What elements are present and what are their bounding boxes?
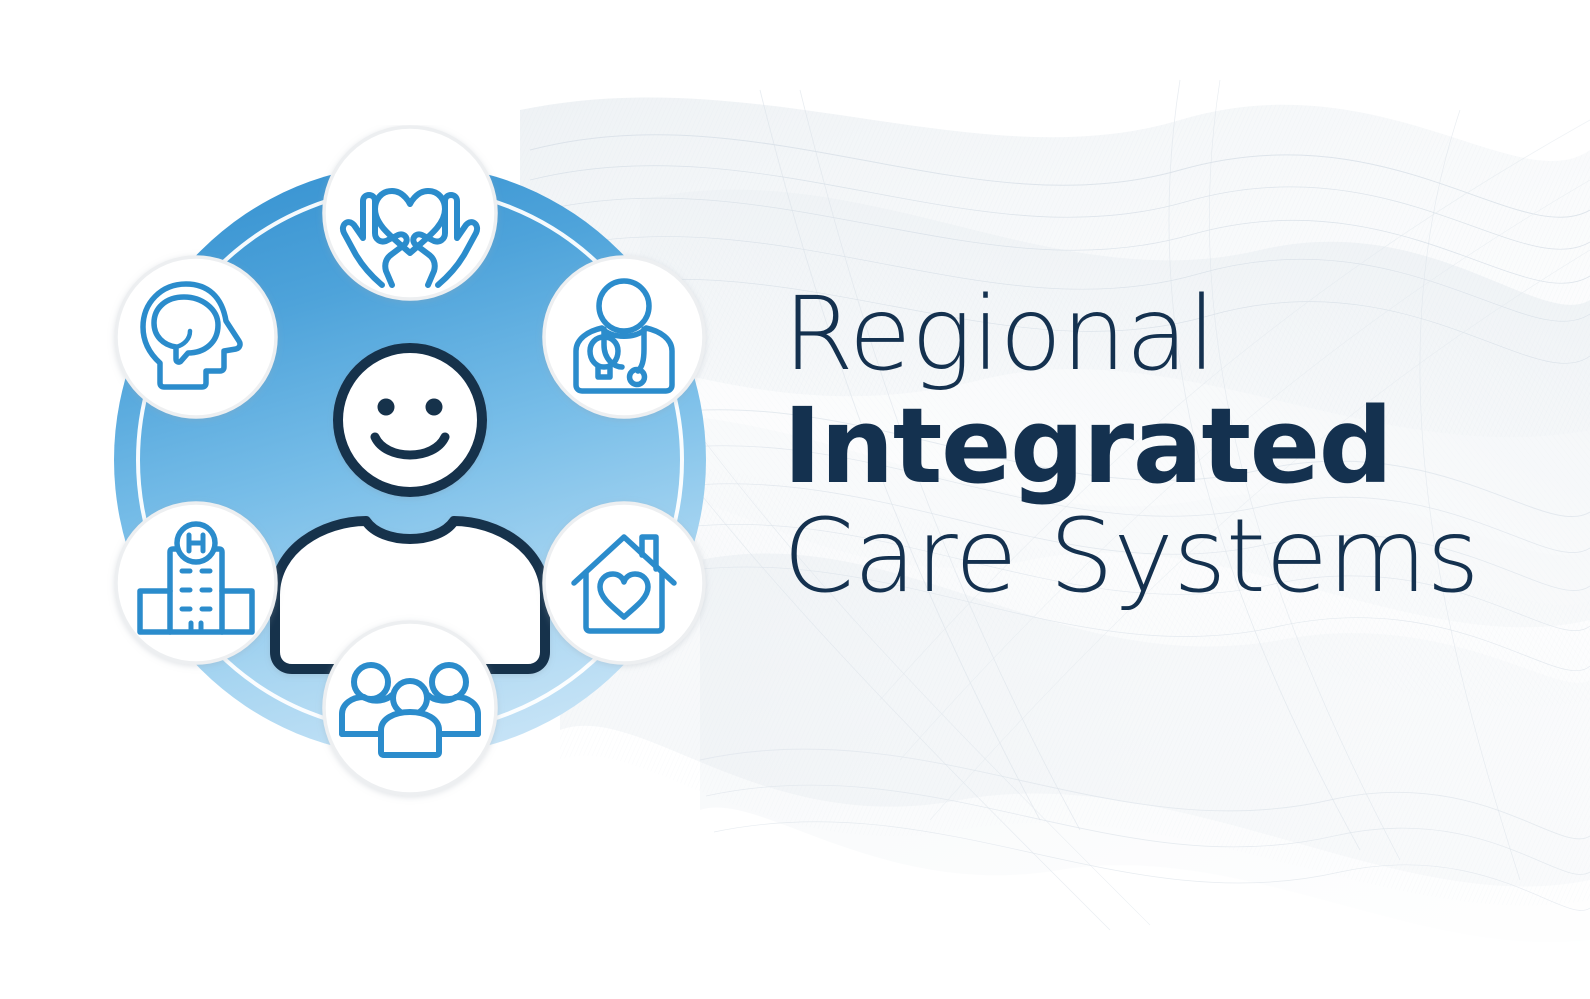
headline-line-3: Care Systems <box>783 504 1543 609</box>
badge-community[interactable] <box>324 622 496 794</box>
badge-hospital[interactable] <box>116 503 276 663</box>
headline-line-2: Integrated <box>783 393 1543 500</box>
badge-doctor[interactable] <box>544 257 704 417</box>
headline-line-1: Regional <box>783 282 1543 387</box>
badge-hands-holding-heart[interactable] <box>324 127 496 299</box>
badge-mental-health[interactable] <box>116 257 276 417</box>
integrated-care-ring-diagram <box>70 125 750 805</box>
poster-canvas: Regional Integrated Care Systems <box>0 0 1590 999</box>
headline-block: Regional Integrated Care Systems <box>783 282 1543 609</box>
badge-home-heart[interactable] <box>544 503 704 663</box>
